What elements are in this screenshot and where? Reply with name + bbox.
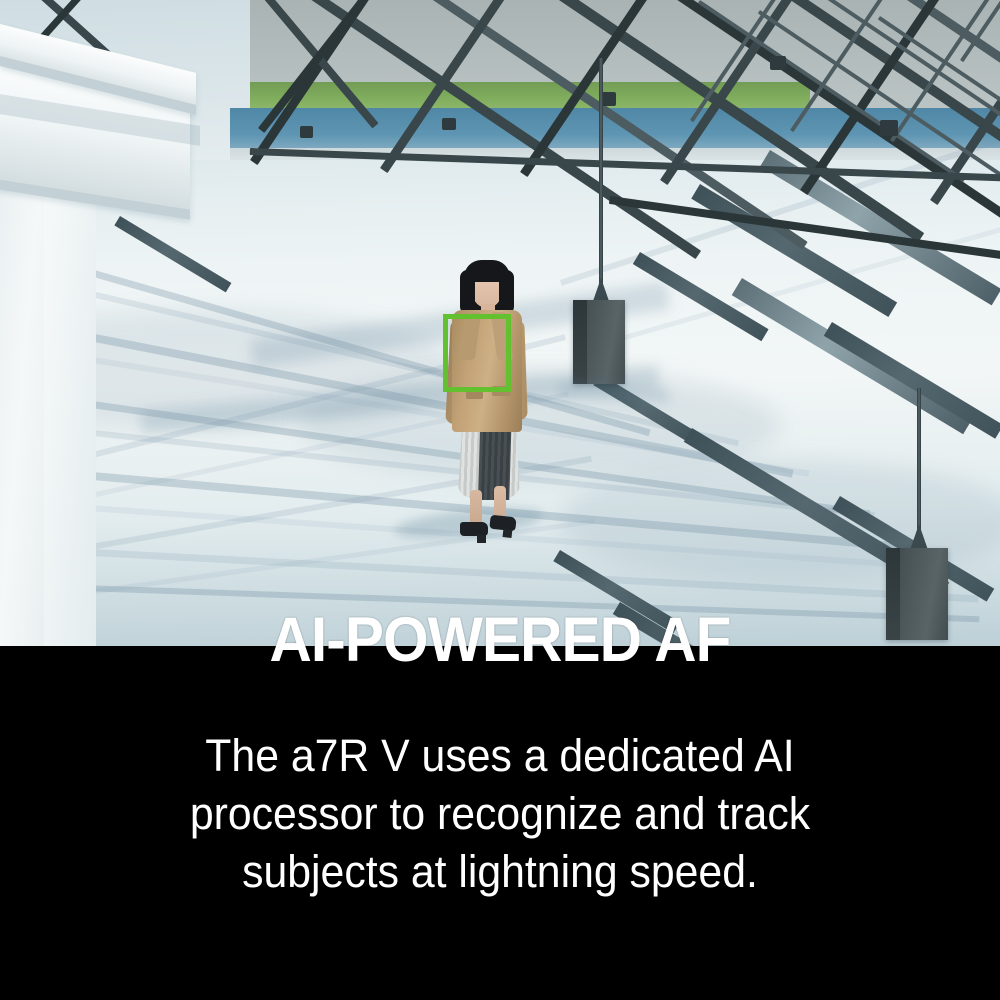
body-line-2: processor to recognize and track	[25, 785, 975, 843]
concrete-pillar-inner	[44, 140, 96, 646]
promo-card: AI-POWERED AF The a7R V uses a dedicated…	[0, 0, 1000, 1000]
subject-person	[428, 258, 548, 558]
subject-shoe-right	[489, 515, 516, 532]
body-line-1: The a7R V uses a dedicated AI	[25, 727, 975, 785]
body-line-3: subjects at lightning speed.	[25, 843, 975, 901]
body-copy: The a7R V uses a dedicated AI processor …	[25, 727, 975, 901]
headline: AI-POWERED AF	[35, 609, 965, 672]
subject-leg-left	[470, 490, 482, 526]
subject-shoe-left	[460, 522, 488, 536]
hero-photo	[0, 0, 1000, 646]
subject-hair-bangs	[464, 260, 510, 282]
af-tracking-box	[443, 314, 511, 392]
